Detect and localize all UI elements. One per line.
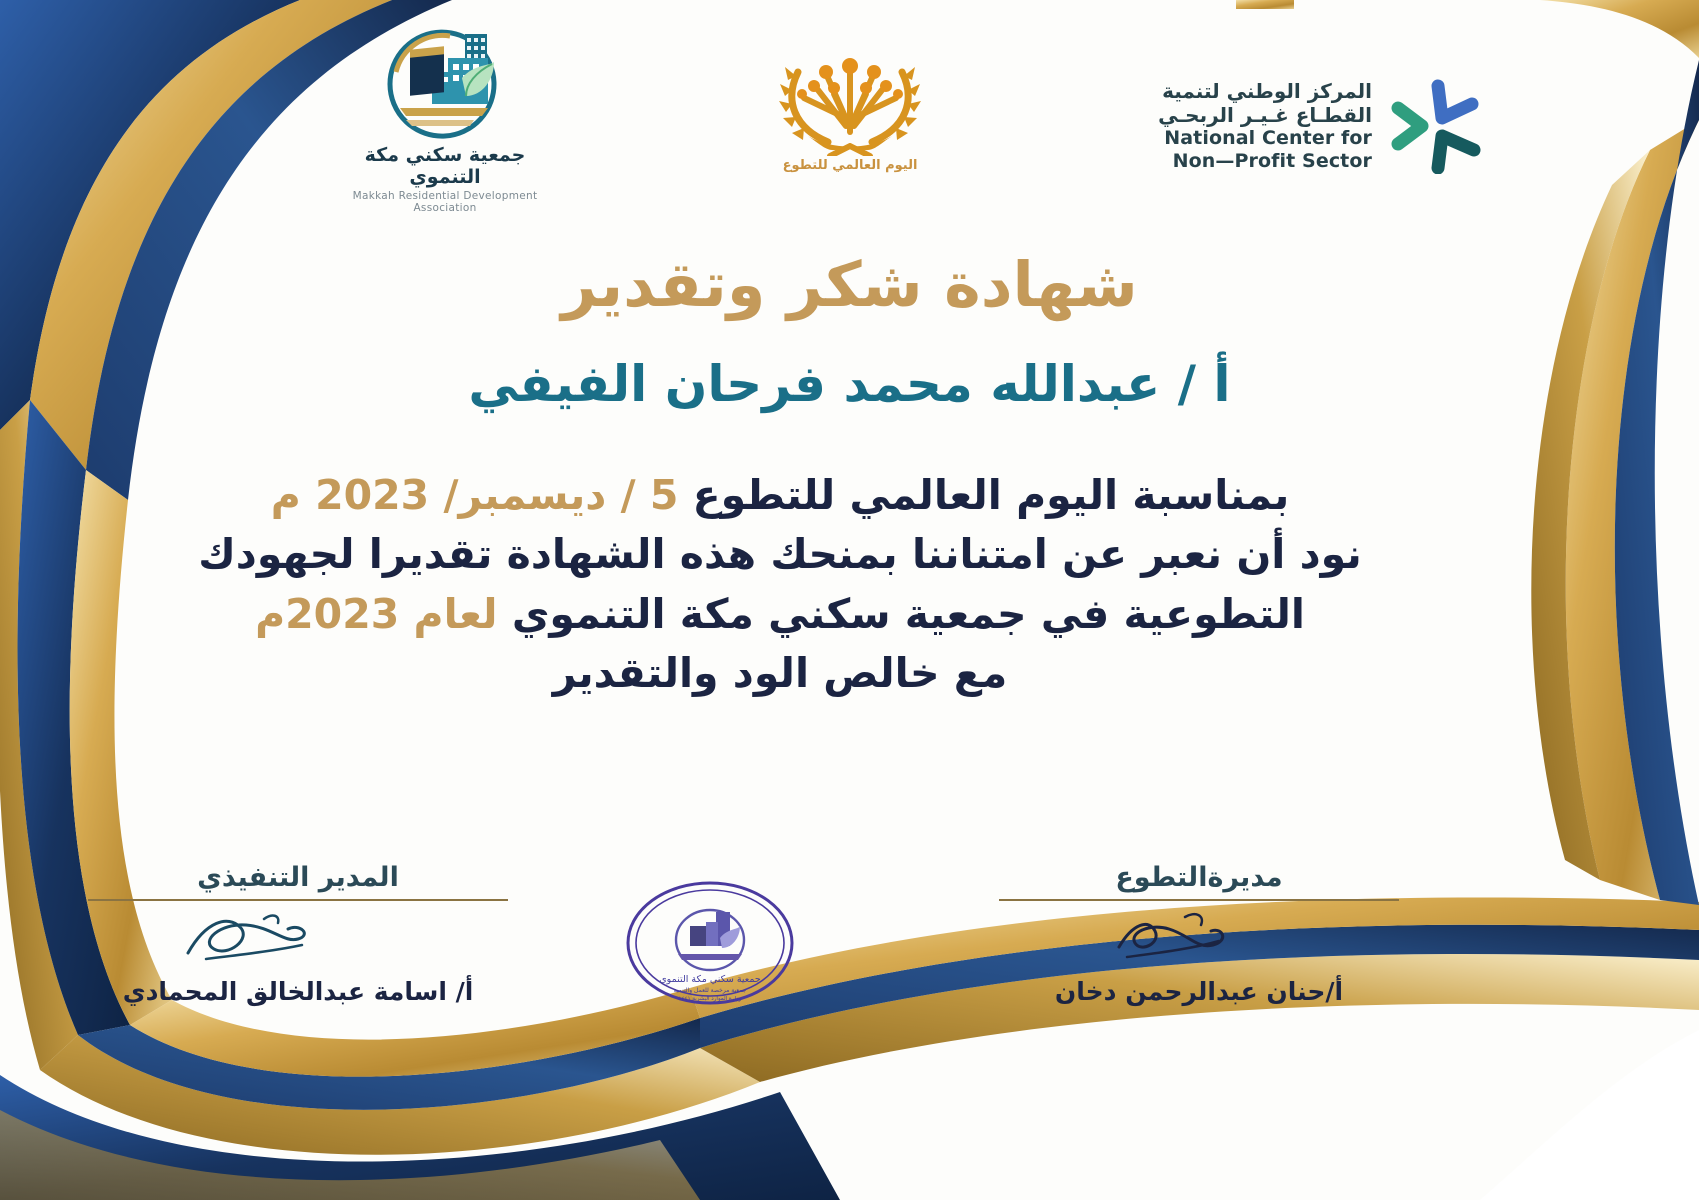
body-text-navy: التطوعية في جمعية سكني مكة التنموي <box>498 590 1305 638</box>
ncnp-en-line2: Non—Profit Sector <box>1158 150 1372 172</box>
svg-text:وزارة الموارد البشرية ١٤٤١: وزارة الموارد البشرية ١٤٤١ <box>679 996 742 1002</box>
certificate-body-line-2: نود أن نعبر عن امتناننا بمنحك هذه الشهاد… <box>150 525 1410 584</box>
official-round-stamp-icon: جمعية سكني مكة التنموي جمعية مرخصة للعمل… <box>620 878 800 1008</box>
signature-role-right: مديرةالتطوع <box>999 862 1399 899</box>
signature-mark-left <box>88 901 508 973</box>
header-logos: جمعية سكني مكة التنموي Makkah Residentia… <box>0 0 1699 230</box>
logo-left-name-ar: جمعية سكني مكة التنموي <box>330 144 560 188</box>
ncnp-three-arrows-icon <box>1388 78 1484 174</box>
ncnp-ar-line1: المركز الوطني لتنمية <box>1158 80 1372 104</box>
certificate-title: شهادة شكر وتقدير <box>0 248 1699 321</box>
body-text-navy: بمناسبة اليوم العالمي للتطوع <box>678 471 1289 519</box>
certificate-body-line-4: مع خالص الود والتقدير <box>150 644 1410 703</box>
recipient-name: أ / عبدالله محمد فرحان الفيفي <box>0 355 1699 413</box>
body-text-navy: مع خالص الود والتقدير <box>553 649 1007 697</box>
certificate-body-line-1: بمناسبة اليوم العالمي للتطوع 5 / ديسمبر/… <box>150 466 1410 525</box>
certificate-body-line-3: التطوعية في جمعية سكني مكة التنموي لعام … <box>150 585 1410 644</box>
certificate-page: جمعية سكني مكة التنموي Makkah Residentia… <box>0 0 1699 1200</box>
logo-ncnp: المركز الوطني لتنمية القطـاع غـيـر الربح… <box>1158 78 1484 174</box>
ncnp-en-line1: National Center for <box>1158 127 1372 149</box>
signature-block-volunteer-director: مديرةالتطوع أ/حنان عبدالرحمن دخان <box>999 862 1399 1006</box>
ncnp-text-block: المركز الوطني لتنمية القطـاع غـيـر الربح… <box>1158 80 1372 172</box>
volunteer-wheat-wreath-icon <box>768 28 933 156</box>
signature-role-left: المدير التنفيذي <box>88 862 508 899</box>
logo-volunteer-day: اليوم العالمي للتطوع <box>745 28 955 173</box>
certificate-body: بمناسبة اليوم العالمي للتطوع 5 / ديسمبر/… <box>150 466 1410 704</box>
signature-mark-right <box>999 901 1399 973</box>
makkah-residential-kaaba-buildings-icon <box>370 22 520 140</box>
logo-center-caption: اليوم العالمي للتطوع <box>745 158 955 173</box>
logo-left-name-en: Makkah Residential Development Associati… <box>330 190 560 214</box>
body-text-navy: نود أن نعبر عن امتناننا بمنحك هذه الشهاد… <box>198 530 1362 578</box>
signature-person-right: أ/حنان عبدالرحمن دخان <box>999 977 1399 1006</box>
svg-text:جمعية مرخصة للعمل والتنمية: جمعية مرخصة للعمل والتنمية <box>674 987 747 994</box>
svg-text:جمعية سكني مكة التنموي: جمعية سكني مكة التنموي <box>659 974 761 985</box>
body-text-gold: لعام 2023م <box>255 590 497 638</box>
body-text-gold: 5 / ديسمبر/ 2023 م <box>271 471 679 519</box>
ncnp-ar-line2: القطـاع غـيـر الربحـي <box>1158 104 1372 128</box>
signature-block-executive-director: المدير التنفيذي أ/ اسامة عبدالخالق المحم… <box>88 862 508 1006</box>
logo-makkah-residential: جمعية سكني مكة التنموي Makkah Residentia… <box>330 22 560 214</box>
signature-person-left: أ/ اسامة عبدالخالق المحمادي <box>88 977 508 1006</box>
